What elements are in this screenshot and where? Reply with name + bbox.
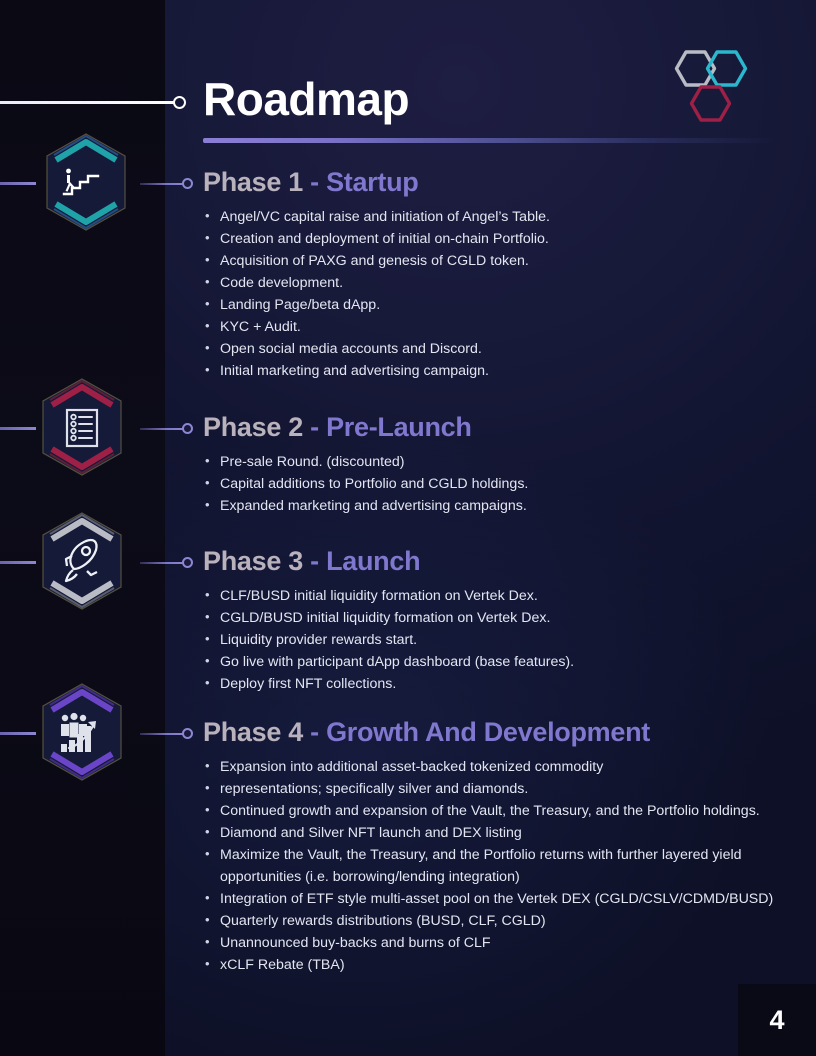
phase-heading-4: Phase 4 - Growth And Development — [203, 718, 788, 748]
phase-items-1: Angel/VC capital raise and initiation of… — [203, 207, 550, 383]
list-item: xCLF Rebate (TBA) — [203, 955, 788, 977]
list-item: Creation and deployment of initial on-ch… — [203, 229, 550, 251]
list-item: Diamond and Silver NFT launch and DEX li… — [203, 823, 788, 845]
list-item: representations; specifically silver and… — [203, 779, 788, 801]
page-title: Roadmap — [203, 76, 409, 122]
phase-items-4: Expansion into additional asset-backed t… — [203, 757, 788, 977]
list-item: Quarterly rewards distributions (BUSD, C… — [203, 911, 788, 933]
list-item: Open social media accounts and Discord. — [203, 339, 550, 361]
phase-connector-3 — [140, 562, 185, 564]
phase-icon-2 — [36, 375, 128, 479]
title-connector-line — [0, 101, 176, 104]
list-item: Unannounced buy-backs and burns of CLF — [203, 933, 788, 955]
phase-number-3: Phase 3 — [203, 546, 303, 576]
list-item: Acquisition of PAXG and genesis of CGLD … — [203, 251, 550, 273]
list-item: Pre-sale Round. (discounted) — [203, 452, 528, 474]
phase-items-3: CLF/BUSD initial liquidity formation on … — [203, 586, 574, 696]
page-number: 4 — [738, 984, 816, 1056]
phase-connector-dot-3 — [182, 557, 193, 568]
phase-connector-4 — [140, 733, 185, 735]
phase-items-2: Pre-sale Round. (discounted) Capital add… — [203, 452, 528, 518]
phase-icon-4 — [36, 680, 128, 784]
list-item: Integration of ETF style multi-asset poo… — [203, 889, 788, 911]
three-hexagon-logo — [662, 42, 758, 140]
phase-heading-1: Phase 1 - Startup — [203, 168, 550, 198]
phase-block-1: Phase 1 - Startup Angel/VC capital raise… — [203, 168, 550, 383]
phase-connector-2 — [140, 428, 185, 430]
list-item: Liquidity provider rewards start. — [203, 630, 574, 652]
list-item: Capital additions to Portfolio and CGLD … — [203, 474, 528, 496]
list-item: Deploy first NFT collections. — [203, 674, 574, 696]
list-item: Landing Page/beta dApp. — [203, 295, 550, 317]
list-item: CLF/BUSD initial liquidity formation on … — [203, 586, 574, 608]
list-item: Maximize the Vault, the Treasury, and th… — [203, 845, 788, 888]
phase-name-4: - Growth And Development — [310, 717, 650, 747]
edge-stub-4 — [0, 732, 36, 735]
list-item: Code development. — [203, 273, 550, 295]
phase-name-1: - Startup — [310, 167, 418, 197]
phase-number-1: Phase 1 — [203, 167, 303, 197]
phase-heading-3: Phase 3 - Launch — [203, 547, 574, 577]
phase-heading-2: Phase 2 - Pre-Launch — [203, 413, 528, 443]
list-item: Angel/VC capital raise and initiation of… — [203, 207, 550, 229]
list-item: CGLD/BUSD initial liquidity formation on… — [203, 608, 574, 630]
phase-connector-dot-4 — [182, 728, 193, 739]
edge-stub-1 — [0, 182, 36, 185]
phase-block-3: Phase 3 - Launch CLF/BUSD initial liquid… — [203, 547, 574, 696]
phase-icon-3 — [36, 509, 128, 613]
phase-connector-dot-2 — [182, 423, 193, 434]
list-item: Continued growth and expansion of the Va… — [203, 801, 788, 823]
phase-icon-1 — [40, 130, 132, 234]
phase-block-2: Phase 2 - Pre-Launch Pre-sale Round. (di… — [203, 413, 528, 518]
list-item: KYC + Audit. — [203, 317, 550, 339]
phase-connector-dot-1 — [182, 178, 193, 189]
list-item: Expanded marketing and advertising campa… — [203, 496, 528, 518]
list-item: Go live with participant dApp dashboard … — [203, 652, 574, 674]
title-connector-dot — [173, 96, 186, 109]
phase-number-2: Phase 2 — [203, 412, 303, 442]
edge-stub-2 — [0, 427, 36, 430]
phase-number-4: Phase 4 — [203, 717, 303, 747]
phase-connector-1 — [140, 183, 185, 185]
phase-block-4: Phase 4 - Growth And Development Expansi… — [203, 718, 788, 977]
phase-name-3: - Launch — [310, 546, 420, 576]
roadmap-page: Roadmap — [0, 0, 816, 1056]
list-item: Expansion into additional asset-backed t… — [203, 757, 788, 779]
list-item: Initial marketing and advertising campai… — [203, 361, 550, 383]
edge-stub-3 — [0, 561, 36, 564]
phase-name-2: - Pre-Launch — [310, 412, 471, 442]
